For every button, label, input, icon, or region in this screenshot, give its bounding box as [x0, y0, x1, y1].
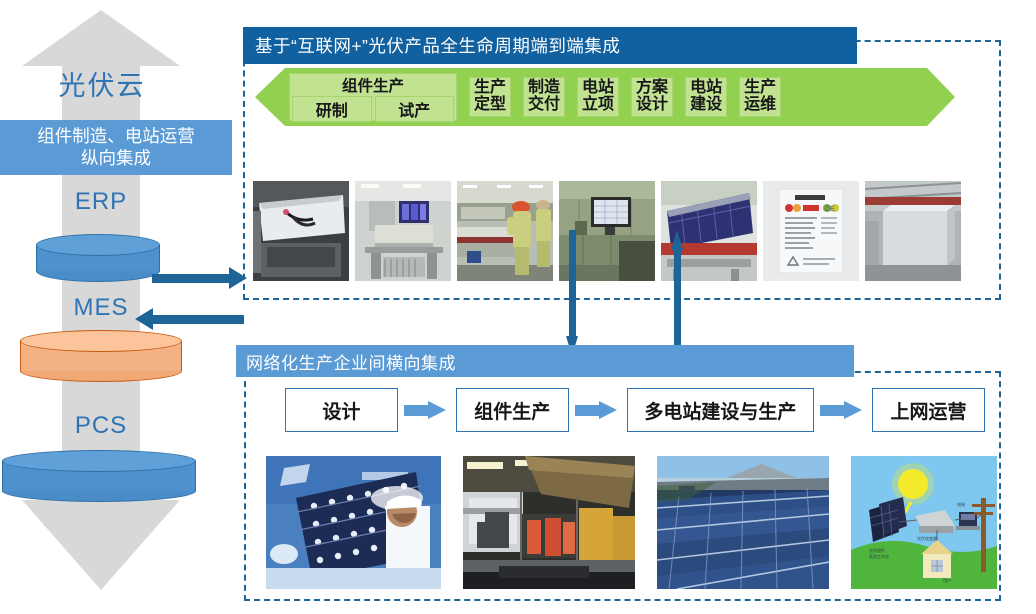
pcs-cylinder-icon	[2, 450, 196, 502]
arrow-shaft	[674, 248, 681, 356]
pv-cloud-label: 光伏云	[0, 62, 204, 104]
arrow-head	[844, 401, 862, 419]
top-panel-header: 基于“互联网+”光伏产品全生命周期端到端集成	[243, 27, 857, 64]
vertical-integration-line-2: 纵向集成	[81, 148, 151, 169]
stage-line-2: 建设	[690, 97, 722, 114]
stage-line-1: 生产	[744, 80, 776, 97]
svg-text:电网: 电网	[957, 501, 965, 507]
vertical-integration-box: 组件制造、电站运营 纵向集成	[0, 120, 232, 175]
down-arrow-head-icon	[22, 500, 180, 590]
bottom-photo-strip: 光伏组件 直流工作站 光伏逆变器 电网 用户	[266, 456, 997, 589]
lifecycle-chevron-bar: 组件生产 研制 试产 生产 定型 制造 交付 电站 立项 方案 设计 电	[255, 68, 955, 126]
arrow-right-icon	[152, 274, 230, 283]
vertical-integration-column: 光伏云 组件制造、电站运营 纵向集成 ERP MES PCS	[0, 0, 236, 614]
svg-text:用户: 用户	[943, 577, 951, 583]
chevron-stage-rd[interactable]: 研制	[292, 96, 372, 122]
arrow-shaft	[820, 405, 846, 416]
diagram-canvas: 光伏云 组件制造、电站运营 纵向集成 ERP MES PCS 基于“互联网+”光…	[0, 0, 1036, 614]
production-flow-row: 设计 组件生产 多电站建设与生产 上网运营	[285, 388, 985, 432]
flow-arrow-icon	[404, 401, 450, 419]
stage-label-pcs: PCS	[1, 412, 201, 440]
arrow-up-icon	[671, 230, 684, 356]
svg-text:光伏组件: 光伏组件	[869, 547, 885, 553]
chevron-stage-operation-maintenance[interactable]: 生产 运维	[739, 77, 781, 117]
arrow-down-icon	[566, 230, 579, 356]
stage-line-1: 电站	[690, 80, 722, 97]
stage-line-2: 设计	[636, 97, 668, 114]
chevron-stage-production-finalization[interactable]: 生产 定型	[469, 77, 511, 117]
arrow-shaft	[569, 230, 576, 338]
chevron-stage-trial[interactable]: 试产	[375, 96, 455, 122]
flow-arrow-icon	[575, 401, 621, 419]
cylinder-top	[36, 234, 160, 256]
photo-grid-connection-diagram: 光伏组件 直流工作站 光伏逆变器 电网 用户	[851, 456, 997, 589]
flow-box-module-production[interactable]: 组件生产	[456, 388, 569, 432]
mes-cylinder-icon	[20, 330, 182, 382]
flow-arrow-icon	[820, 401, 866, 419]
flow-box-multi-plant-construction[interactable]: 多电站建设与生产	[627, 388, 814, 432]
stage-label-erp: ERP	[1, 188, 201, 216]
chevron-group-title: 组件生产	[290, 74, 456, 96]
photo-test-equipment-bench	[355, 181, 451, 281]
vertical-integration-line-1: 组件制造、电站运营	[37, 126, 195, 147]
photo-worker-production-line	[457, 181, 553, 281]
bottom-panel-header: 网络化生产企业间横向集成	[236, 345, 854, 377]
cylinder-top	[20, 330, 182, 352]
flow-box-design[interactable]: 设计	[285, 388, 398, 432]
photo-solar-farm-field	[657, 456, 829, 589]
arrow-shaft	[404, 405, 430, 416]
arrow-head	[428, 401, 446, 419]
photo-packed-module-crate	[865, 181, 961, 281]
chevron-stage-plant-construction[interactable]: 电站 建设	[685, 77, 727, 117]
photo-engineer-inspecting-panel	[266, 456, 441, 589]
arrow-left-icon	[152, 315, 244, 324]
chevron-stage-plant-initiation[interactable]: 电站 立项	[577, 77, 619, 117]
top-photo-strip: CE	[253, 181, 961, 281]
stage-line-1: 生产	[474, 80, 506, 97]
flow-box-grid-operation[interactable]: 上网运营	[872, 388, 985, 432]
stage-line-1: 制造	[528, 80, 560, 97]
stage-line-2: 立项	[582, 97, 614, 114]
erp-cylinder-icon	[36, 234, 160, 282]
svg-text:直流工作站: 直流工作站	[869, 553, 889, 559]
chevron-stage-scheme-design[interactable]: 方案 设计	[631, 77, 673, 117]
chevron-stage-manufacture-delivery[interactable]: 制造 交付	[523, 77, 565, 117]
stage-line-2: 运维	[744, 97, 776, 114]
stage-line-1: 方案	[636, 80, 668, 97]
arrow-head	[671, 230, 683, 250]
svg-text:光伏逆变器: 光伏逆变器	[917, 535, 937, 541]
photo-robotic-assembly-line	[463, 456, 635, 589]
arrow-shaft	[575, 405, 601, 416]
photo-product-label-sheet: CE	[763, 181, 859, 281]
stage-line-2: 交付	[528, 97, 560, 114]
cylinder-top	[2, 450, 196, 472]
chevron-group-module-production[interactable]: 组件生产 研制 试产	[289, 73, 457, 121]
arrow-head	[599, 401, 617, 419]
stage-line-1: 电站	[582, 80, 614, 97]
stage-line-2: 定型	[474, 97, 506, 114]
photo-module-lamination-machine	[253, 181, 349, 281]
svg-text:CE: CE	[825, 206, 835, 213]
